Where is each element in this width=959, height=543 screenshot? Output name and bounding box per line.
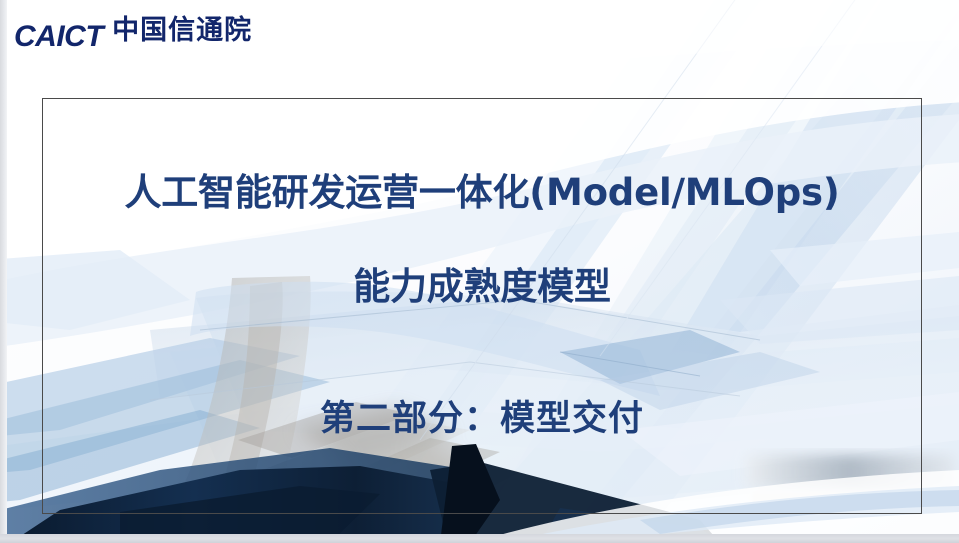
page-edge-bottom <box>0 534 959 543</box>
caict-logo-chinese-name: 中国信通院 <box>112 16 252 52</box>
page-edge-left <box>0 0 7 543</box>
caict-logo: CAICT 中国信通院 <box>14 16 252 52</box>
caict-logo-acronym: CAICT <box>14 20 103 53</box>
slide-canvas: CAICT 中国信通院 人工智能研发运营一体化(Model/MLOps) 能力成… <box>0 0 959 543</box>
caict-logo-mark: CAICT <box>14 22 103 52</box>
slide-header: CAICT 中国信通院 <box>0 0 959 78</box>
content-frame-border <box>42 98 922 514</box>
